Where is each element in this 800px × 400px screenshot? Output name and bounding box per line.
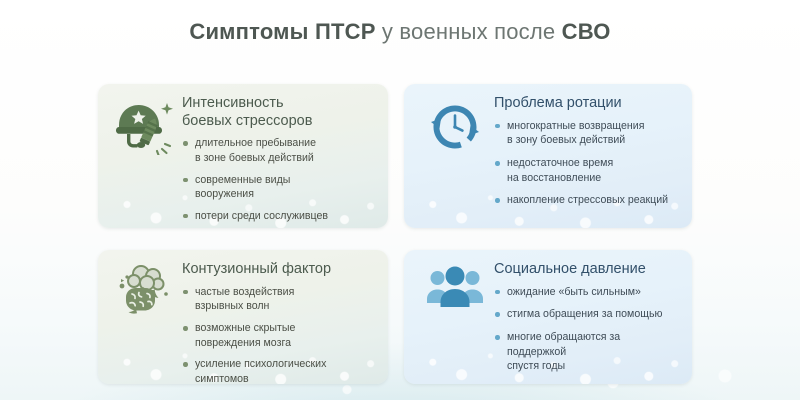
list-item: многократные возвращения в зону боевых д… [494, 119, 682, 148]
icon-slot [110, 261, 182, 376]
list-item: стигма обращения за помощью [494, 307, 682, 322]
card-title: Контузионный фактор [182, 261, 378, 279]
list-item: потери среди сослуживцев [182, 209, 378, 224]
card-contusion-factor[interactable]: Контузионный фактор частые воздействия в… [98, 250, 388, 384]
list-item: частые воздействия взрывных волн [182, 285, 378, 314]
card-rotation-problem[interactable]: Проблема ротации многократные возвращени… [404, 84, 692, 228]
card-bullet-list: длительное пребывание в зоне боевых дейс… [182, 136, 378, 223]
clock-rotation-icon [428, 100, 482, 154]
card-social-pressure[interactable]: Социальное давление ожидание «быть сильн… [404, 250, 692, 384]
card-bullet-list: частые воздействия взрывных волн возможн… [182, 285, 378, 384]
card-content: Контузионный фактор частые воздействия в… [182, 261, 378, 376]
card-content: Проблема ротации многократные возвращени… [494, 95, 682, 220]
list-item: многие обращаются за поддержкой спустя г… [494, 330, 682, 374]
icon-slot [110, 95, 182, 220]
list-item: недостаточное время на восстановление [494, 156, 682, 185]
cards-grid: Интенсивность боевых стрессоров длительн… [98, 84, 692, 384]
slide-root: Симптомы ПТСР у военных после СВО [0, 0, 800, 400]
card-content: Интенсивность боевых стрессоров длительн… [182, 95, 378, 220]
list-item: длительное пребывание в зоне боевых дейс… [182, 136, 378, 165]
list-item: возможные скрытые повреждения мозга [182, 321, 378, 350]
page-title-normal: у военных после [376, 19, 562, 44]
card-intensity-of-combat-stressors[interactable]: Интенсивность боевых стрессоров длительн… [98, 84, 388, 228]
group-of-people-icon [426, 266, 484, 308]
card-title: Проблема ротации [494, 95, 682, 113]
card-bullet-list: ожидание «быть сильным» стигма обращения… [494, 285, 682, 374]
page-title-bold-trailing: СВО [562, 19, 611, 44]
page-title-bold-leading: Симптомы ПТСР [189, 19, 375, 44]
brain-explosion-icon [114, 263, 178, 319]
icon-slot [416, 261, 494, 376]
card-content: Социальное давление ожидание «быть сильн… [494, 261, 682, 376]
card-title: Социальное давление [494, 261, 682, 279]
list-item: усиление психологических симптомов [182, 357, 378, 384]
icon-slot [416, 95, 494, 220]
page-title: Симптомы ПТСР у военных после СВО [0, 19, 800, 45]
card-bullet-list: многократные возвращения в зону боевых д… [494, 119, 682, 208]
list-item: накопление стрессовых реакций [494, 193, 682, 208]
military-helmet-icon [115, 97, 177, 155]
card-title: Интенсивность боевых стрессоров [182, 95, 378, 130]
list-item: современные виды вооружения [182, 173, 378, 202]
list-item: ожидание «быть сильным» [494, 285, 682, 300]
